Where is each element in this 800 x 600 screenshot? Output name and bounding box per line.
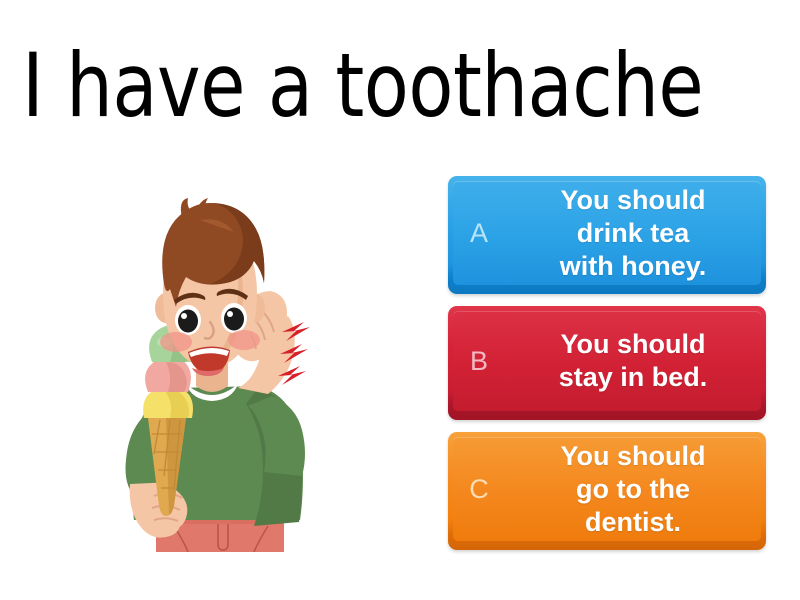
illustration-boy-with-toothache: [104, 196, 356, 552]
answer-text-b: You shouldstay in bed.: [510, 328, 766, 398]
answer-line: dentist.: [585, 507, 681, 537]
answer-option-a[interactable]: A You shoulddrink teawith honey.: [448, 176, 766, 294]
answer-letter-a: A: [448, 220, 510, 251]
answer-line: go to the: [576, 474, 690, 504]
answer-letter-b: B: [448, 348, 510, 379]
answer-line: You should: [561, 441, 706, 471]
answer-options-list: A You shoulddrink teawith honey. B You s…: [448, 176, 766, 550]
answer-line: with honey.: [560, 251, 707, 281]
page-title: I have a toothache: [22, 36, 725, 136]
answer-text-c: You shouldgo to thedentist.: [510, 440, 766, 543]
answer-option-b[interactable]: B You shouldstay in bed.: [448, 306, 766, 420]
answer-text-a: You shoulddrink teawith honey.: [510, 184, 766, 287]
answer-line: stay in bed.: [559, 362, 708, 392]
answer-letter-c: C: [448, 476, 510, 507]
answer-option-c[interactable]: C You shouldgo to thedentist.: [448, 432, 766, 550]
answer-line: You should: [561, 185, 706, 215]
quiz-slide: I have a toothache: [0, 0, 800, 600]
answer-line: You should: [561, 329, 706, 359]
answer-line: drink tea: [577, 218, 690, 248]
